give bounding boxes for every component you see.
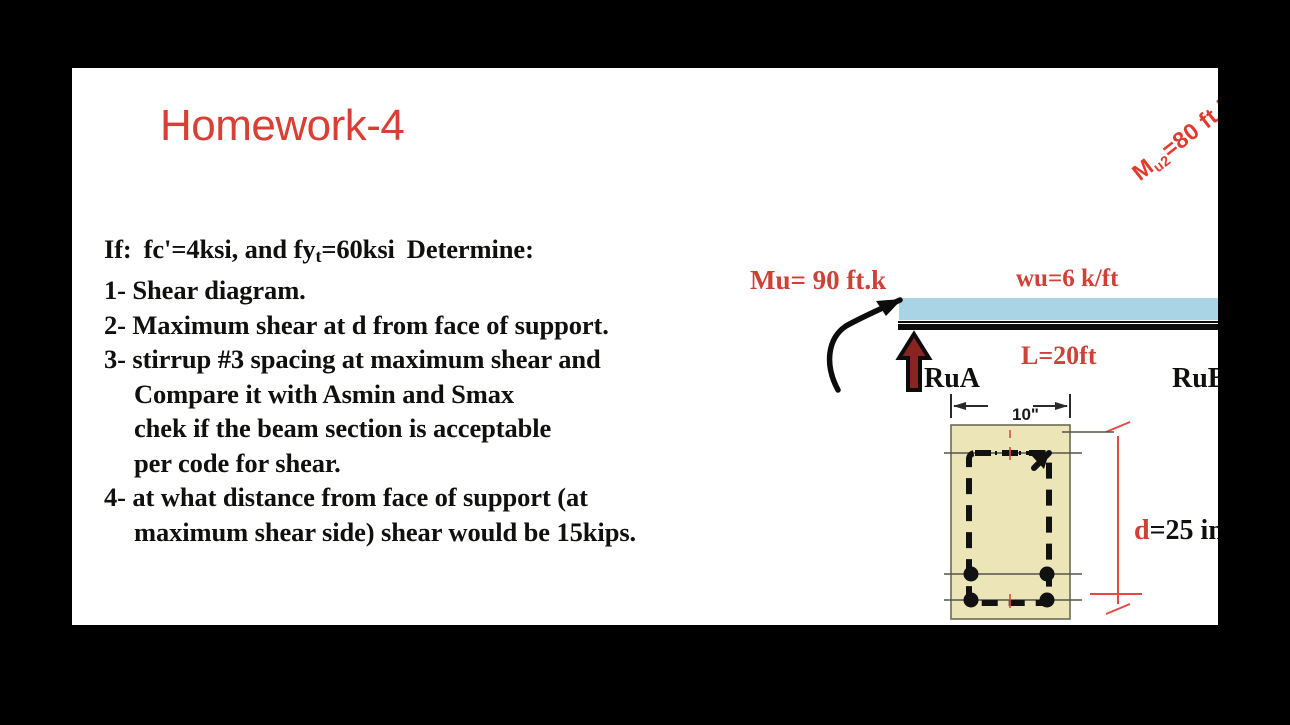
given-trailer: Determine: (407, 234, 534, 264)
hw-symbol: M (1127, 153, 1159, 186)
beam-cross-section-figure: 10" (920, 340, 1218, 620)
statement-line-3d: per code for shear. (104, 446, 784, 481)
given-prefix: If: (104, 234, 132, 264)
page-title: Homework-4 (160, 101, 404, 151)
beam-line-upper (898, 321, 1218, 323)
given-tail: =60ksi (321, 234, 394, 264)
depth-symbol: d (1134, 515, 1150, 546)
slide-canvas: Homework-4 If:fc'=4ksi, and fyt=60ksiDet… (72, 68, 1218, 625)
handwritten-moment-text: Mu2=80 ft.k (1127, 90, 1218, 188)
statement-line-3: 3- stirrup #3 spacing at maximum shear a… (104, 342, 784, 377)
given-body: fc'=4ksi, and fy (144, 234, 316, 264)
statement-line-4: 4- at what distance from face of support… (104, 480, 784, 515)
screenshot-root: Homework-4 If:fc'=4ksi, and fyt=60ksiDet… (0, 0, 1290, 725)
handwritten-annotation: Mu2=80 ft.k (1124, 120, 1218, 230)
moment-pointer-arrow-left (820, 286, 930, 396)
rebar-dot (1040, 567, 1055, 582)
statement-line-3c: chek if the beam section is acceptable (104, 411, 784, 446)
depth-value: =25 in (1150, 515, 1218, 546)
beam-line (898, 324, 1218, 330)
distributed-load-label: wu=6 k/ft (1016, 265, 1118, 293)
statement-line-4b: maximum shear side) shear would be 15kip… (104, 515, 784, 550)
hw-value: =80 ft.k (1156, 90, 1218, 162)
distributed-load-bar (899, 298, 1218, 320)
statement-line-3b: Compare it with Asmin and Smax (104, 377, 784, 412)
rebar-dot (964, 567, 979, 582)
rebar-dot (964, 593, 979, 608)
depth-dimension-label: d=25 in (1134, 515, 1218, 547)
rebar-dot (1040, 593, 1055, 608)
